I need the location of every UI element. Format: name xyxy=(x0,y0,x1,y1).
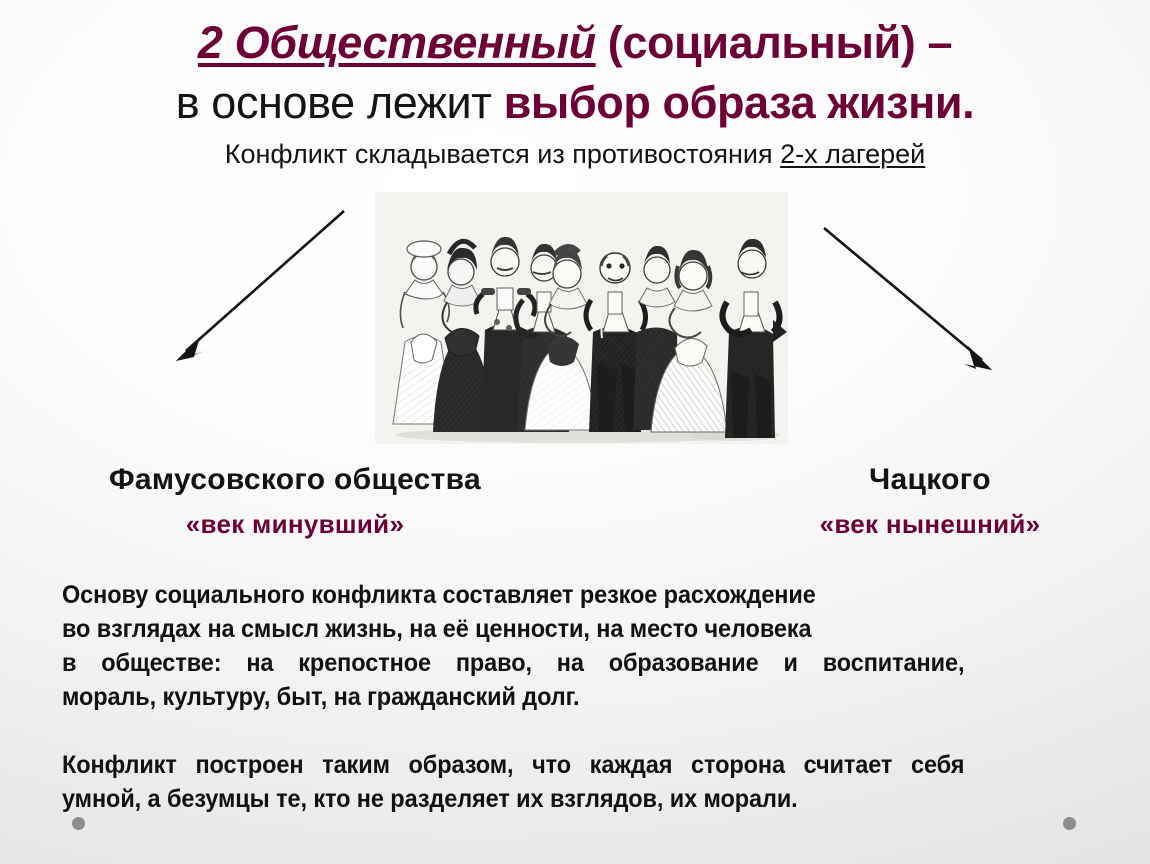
title-block: 2 Общественный (социальный) – в основе л… xyxy=(0,14,1150,172)
camp-famusov-title: Фамусовского общества xyxy=(30,460,560,500)
arrow-down-left-icon xyxy=(170,205,350,365)
paragraph-2-line-2: умной, а безумцы те, кто не разделяет их… xyxy=(62,782,964,816)
paragraph-1-line-3: в обществе: на крепостное право, на обра… xyxy=(62,646,964,680)
camp-chatsky-title: Чацкого xyxy=(715,460,1145,500)
paragraph-1-line-1: Основу социального конфликта составляет … xyxy=(62,578,964,612)
title-line-2-emphasis: выбор образа жизни. xyxy=(504,77,975,128)
subtitle-underlined: 2-х лагерей xyxy=(780,139,925,169)
paragraph-2-line-1: Конфликт построен таким образом, что каж… xyxy=(62,748,964,782)
camp-chatsky-subtitle: «век нынешний» xyxy=(715,505,1145,543)
title-accent-numbered: 2 Общественный xyxy=(198,17,596,68)
camp-chatsky: Чацкого «век нынешний» xyxy=(715,460,1145,543)
paragraph-1-line-4: мораль, культуру, быт, на гражданский до… xyxy=(62,680,964,714)
title-line-2: в основе лежит выбор образа жизни. xyxy=(0,74,1150,132)
title-accent-parenthetical: (социальный) xyxy=(596,17,928,68)
body-text-block: Основу социального конфликта составляет … xyxy=(62,578,1022,816)
title-line-2-plain: в основе лежит xyxy=(176,77,504,128)
slide-canvas: 2 Общественный (социальный) – в основе л… xyxy=(0,0,1150,864)
footer-dot-left-icon xyxy=(72,817,85,830)
title-dash: – xyxy=(927,17,952,68)
paragraph-1-line-2: во взглядах на смысл жизнь, на её ценнос… xyxy=(62,612,964,646)
arrow-down-right-icon xyxy=(818,222,998,374)
paragraph-1: Основу социального конфликта составляет … xyxy=(62,578,964,714)
footer-dot-right-icon xyxy=(1063,817,1076,830)
camp-famusov-society: Фамусовского общества «век минувший» xyxy=(30,460,560,543)
camp-famusov-subtitle: «век минувший» xyxy=(30,505,560,543)
title-line-1: 2 Общественный (социальный) – xyxy=(0,14,1150,72)
title-line-3: Конфликт складывается из противостояния … xyxy=(0,136,1150,172)
paragraph-2: Конфликт построен таким образом, что каж… xyxy=(62,748,964,816)
subtitle-plain: Конфликт складывается из противостояния xyxy=(225,139,780,169)
engraving-illustration xyxy=(375,192,788,444)
